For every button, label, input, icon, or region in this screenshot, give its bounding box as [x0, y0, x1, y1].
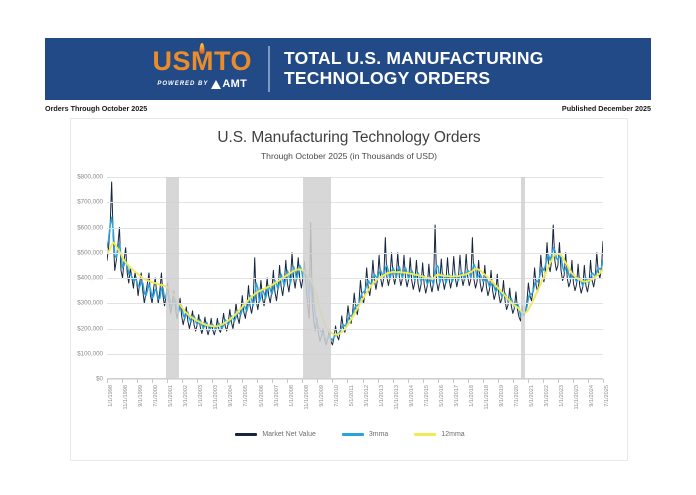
- x-axis-tick-label: 9/1/2004: [229, 385, 235, 407]
- x-axis-tick-label: 5/1/2021: [530, 385, 536, 407]
- y-axis-tick-label: $500,000: [77, 249, 103, 256]
- x-axis-tick: [122, 379, 123, 383]
- x-axis-tick-label: 11/1/2018: [485, 385, 491, 409]
- powered-by-label: POWERED BY: [157, 81, 208, 87]
- x-axis-tick: [573, 379, 574, 383]
- x-axis-tick-label: 3/1/2007: [275, 385, 281, 407]
- y-axis-tick-label: $800,000: [77, 174, 103, 181]
- y-axis-labels: $0$100,000$200,000$300,000$400,000$500,0…: [71, 171, 105, 383]
- x-axis-tick: [317, 379, 318, 383]
- legend-label: Market Net Value: [262, 431, 316, 438]
- x-axis-tick-label: 9/1/1999: [139, 385, 145, 407]
- x-axis-tick-label: 7/1/2005: [244, 385, 250, 407]
- gridline: [107, 253, 603, 254]
- logo-letter-to: TO: [214, 48, 252, 75]
- flame-icon: M: [191, 48, 214, 75]
- chart-card: U.S. Manufacturing Technology Orders Thr…: [70, 118, 628, 461]
- x-axis-tick-label: 9/1/2014: [410, 385, 416, 407]
- x-axis-tick-label: 11/1/1998: [124, 385, 130, 409]
- x-axis-tick-label: 1/1/2003: [199, 385, 205, 407]
- recession-band: [166, 177, 178, 379]
- y-axis-tick-label: $100,000: [77, 350, 103, 357]
- x-axis-tick: [438, 379, 439, 383]
- x-axis-tick-label: 11/1/2008: [305, 385, 311, 409]
- x-axis-tick-label: 5/1/2006: [260, 385, 266, 407]
- x-axis-tick: [603, 379, 604, 383]
- x-axis-tick-label: 7/1/2025: [605, 385, 611, 407]
- legend-swatch: [342, 433, 364, 436]
- x-axis-tick: [558, 379, 559, 383]
- usmto-logo: USMTO POWERED BY AMT: [152, 48, 254, 90]
- x-axis-tick: [378, 379, 379, 383]
- x-axis-tick-label: 1/1/1998: [109, 385, 115, 407]
- x-axis-tick-label: 3/1/2022: [545, 385, 551, 407]
- x-axis-tick: [423, 379, 424, 383]
- slide-root: USMTO POWERED BY AMT TOTAL U.S. MANUFACT…: [0, 0, 696, 495]
- amt-logo: AMT: [211, 78, 247, 90]
- y-axis-tick-label: $600,000: [77, 224, 103, 231]
- x-axis-tick-label: 5/1/2011: [350, 385, 356, 406]
- x-axis-tick-label: 3/1/2017: [455, 385, 461, 407]
- gridline: [107, 177, 603, 178]
- y-axis-tick-label: $400,000: [77, 275, 103, 282]
- legend-label: 3mma: [369, 431, 388, 438]
- x-axis-tick: [498, 379, 499, 383]
- gridline: [107, 303, 603, 304]
- header-title-line2: TECHNOLOGY ORDERS: [284, 69, 544, 89]
- gridline: [107, 278, 603, 279]
- x-axis-tick-label: 1/1/2013: [380, 385, 386, 407]
- x-axis-tick-label: 1/1/2008: [290, 385, 296, 407]
- chart-legend: Market Net Value3mma12mma: [71, 431, 629, 438]
- logo-subline: POWERED BY AMT: [157, 78, 247, 90]
- x-axis-tick: [197, 379, 198, 383]
- gridline: [107, 354, 603, 355]
- y-axis-tick-label: $200,000: [77, 325, 103, 332]
- x-axis-tick-label: 7/1/2015: [425, 385, 431, 407]
- x-axis-tick: [468, 379, 469, 383]
- series-line: [107, 182, 603, 345]
- header-inner: USMTO POWERED BY AMT TOTAL U.S. MANUFACT…: [152, 46, 543, 92]
- header-title-line1: TOTAL U.S. MANUFACTURING: [284, 49, 544, 69]
- orders-through-label: Orders Through October 2025: [45, 104, 147, 113]
- triangle-icon: [211, 80, 221, 89]
- x-axis-tick: [347, 379, 348, 383]
- y-axis-tick-label: $700,000: [77, 199, 103, 206]
- legend-item[interactable]: 3mma: [342, 431, 388, 438]
- amt-label: AMT: [222, 78, 247, 90]
- x-axis-tick: [483, 379, 484, 383]
- x-axis-tick: [272, 379, 273, 383]
- x-axis-tick: [182, 379, 183, 383]
- logo-letter-us: US: [152, 48, 191, 75]
- x-axis-tick-label: 9/1/2019: [500, 385, 506, 407]
- x-axis-tick-label: 5/1/2001: [169, 385, 175, 407]
- gridline: [107, 329, 603, 330]
- x-axis-tick-label: 1/1/2023: [560, 385, 566, 407]
- x-axis-tick: [302, 379, 303, 383]
- x-axis-tick-label: 7/1/2020: [515, 385, 521, 407]
- y-axis-tick-label: $300,000: [77, 300, 103, 307]
- x-axis-tick: [152, 379, 153, 383]
- x-axis-tick: [528, 379, 529, 383]
- recession-band: [521, 177, 526, 379]
- x-axis-tick: [393, 379, 394, 383]
- x-axis-tick: [513, 379, 514, 383]
- legend-label: 12mma: [441, 431, 464, 438]
- x-axis-tick-label: 7/1/2010: [335, 385, 341, 407]
- gridline: [107, 202, 603, 203]
- x-axis-tick-label: 3/1/2012: [365, 385, 371, 407]
- x-axis-tick: [363, 379, 364, 383]
- x-axis-tick: [257, 379, 258, 383]
- x-axis-tick: [543, 379, 544, 383]
- x-axis-tick-label: 3/1/2002: [184, 385, 190, 407]
- x-axis-tick: [588, 379, 589, 383]
- x-axis-tick-label: 1/1/2018: [470, 385, 476, 407]
- header-banner: USMTO POWERED BY AMT TOTAL U.S. MANUFACT…: [45, 38, 651, 100]
- x-axis-tick-label: 11/1/2013: [395, 385, 401, 409]
- x-axis-tick: [167, 379, 168, 383]
- x-axis-tick: [137, 379, 138, 383]
- x-axis-tick: [212, 379, 213, 383]
- x-axis-tick: [107, 379, 108, 383]
- x-axis-tick: [408, 379, 409, 383]
- legend-swatch: [235, 433, 257, 436]
- legend-item[interactable]: Market Net Value: [235, 431, 316, 438]
- subheader: Orders Through October 2025 Published De…: [45, 101, 651, 115]
- x-axis-tick: [242, 379, 243, 383]
- x-axis-tick: [227, 379, 228, 383]
- plot-wrapper: $0$100,000$200,000$300,000$400,000$500,0…: [71, 119, 629, 462]
- x-axis-tick-label: 9/1/2009: [320, 385, 326, 407]
- legend-swatch: [414, 433, 436, 436]
- x-axis-tick: [287, 379, 288, 383]
- gridline: [107, 228, 603, 229]
- x-axis-tick-label: 11/1/2003: [214, 385, 220, 409]
- y-axis-tick-label: $0: [96, 376, 103, 383]
- x-axis-tick-label: 5/1/2016: [440, 385, 446, 407]
- published-label: Published December 2025: [562, 104, 651, 113]
- recession-band: [303, 177, 331, 379]
- legend-item[interactable]: 12mma: [414, 431, 464, 438]
- x-axis-tick: [453, 379, 454, 383]
- x-axis-tick-label: 9/1/2024: [590, 385, 596, 407]
- x-axis-tick-label: 11/1/2023: [575, 385, 581, 409]
- header-title: TOTAL U.S. MANUFACTURING TECHNOLOGY ORDE…: [284, 49, 544, 89]
- usmto-logo-wordmark: USMTO: [152, 48, 252, 75]
- plot-area: [107, 177, 603, 379]
- x-axis-tick: [332, 379, 333, 383]
- header-divider: [268, 46, 270, 92]
- x-axis-tick-label: 7/1/2000: [154, 385, 160, 407]
